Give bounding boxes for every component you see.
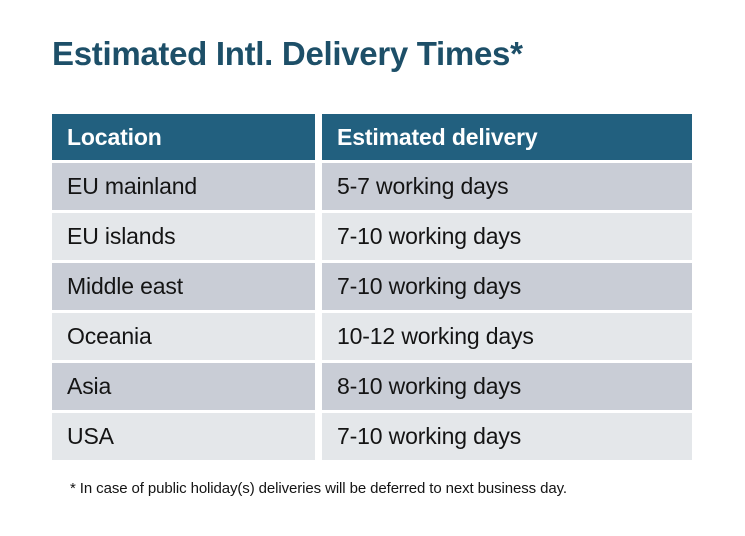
cell-location: Asia	[52, 363, 315, 410]
delivery-times-table: Location Estimated delivery EU mainland …	[52, 114, 692, 460]
column-header-location: Location	[52, 114, 315, 160]
footnote-text: * In case of public holiday(s) deliverie…	[70, 480, 567, 497]
table-row: USA 7-10 working days	[52, 413, 692, 460]
table-row: Asia 8-10 working days	[52, 363, 692, 410]
cell-location: USA	[52, 413, 315, 460]
table-row: EU mainland 5-7 working days	[52, 163, 692, 210]
cell-delivery: 8-10 working days	[322, 363, 692, 410]
cell-delivery: 10-12 working days	[322, 313, 692, 360]
table-row: Oceania 10-12 working days	[52, 313, 692, 360]
table-row: EU islands 7-10 working days	[52, 213, 692, 260]
delivery-times-panel: Estimated Intl. Delivery Times* Location…	[0, 0, 745, 536]
cell-location: Middle east	[52, 263, 315, 310]
table-row: Middle east 7-10 working days	[52, 263, 692, 310]
cell-delivery: 7-10 working days	[322, 213, 692, 260]
cell-delivery: 7-10 working days	[322, 263, 692, 310]
table-header-row: Location Estimated delivery	[52, 114, 692, 160]
page-title: Estimated Intl. Delivery Times*	[52, 36, 523, 72]
column-header-estimated-delivery: Estimated delivery	[322, 114, 692, 160]
cell-location: Oceania	[52, 313, 315, 360]
cell-location: EU mainland	[52, 163, 315, 210]
cell-location: EU islands	[52, 213, 315, 260]
cell-delivery: 5-7 working days	[322, 163, 692, 210]
cell-delivery: 7-10 working days	[322, 413, 692, 460]
